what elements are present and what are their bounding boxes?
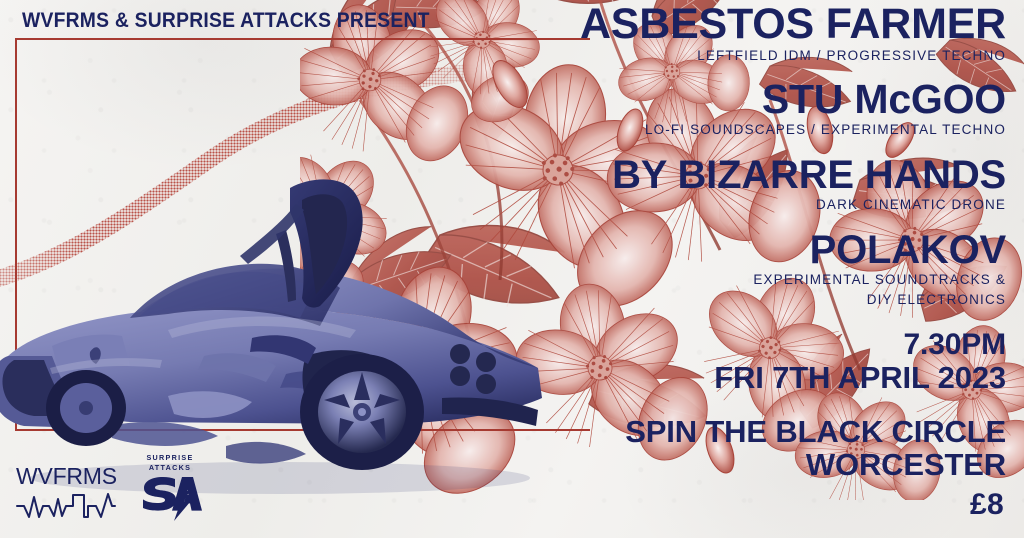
lineup-act: STU McGOO LO-FI SOUNDSCAPES / EXPERIMENT… [306,80,1006,138]
act-name: STU McGOO [306,80,1006,119]
ticket-price: £8 [970,488,1004,522]
event-date: FRI 7TH APRIL 2023 [306,362,1006,395]
act-genre-line-1: EXPERIMENTAL SOUNDTRACKS & [306,272,1006,288]
waveform-icon [16,491,116,521]
lineup-act: BY BIZARRE HANDS DARK CINEMATIC DRONE [306,156,1006,213]
event-details: 7.30PM FRI 7TH APRIL 2023 SPIN THE BLACK… [306,330,1006,482]
surprise-attacks-line-1: SURPRISE [138,453,202,462]
gig-poster: WVFRMS & SURPRISE ATTACKS PRESENT ASBEST… [0,0,1024,538]
act-name: ASBESTOS FARMER [306,4,1006,45]
sa-monogram-icon [138,473,202,521]
wvfrms-wordmark: WVFRMS [16,465,116,488]
lineup-act: POLAKOV EXPERIMENTAL SOUNDTRACKS & DIY E… [306,231,1006,308]
act-genre: DARK CINEMATIC DRONE [306,197,1006,213]
act-genre: LO-FI SOUNDSCAPES / EXPERIMENTAL TECHNO [306,122,1006,138]
act-name: BY BIZARRE HANDS [306,156,1006,194]
event-time: 7.30PM [306,330,1006,361]
lineup-act: ASBESTOS FARMER LEFTFIELD IDM / PROGRESS… [306,4,1006,64]
wvfrms-logo: WVFRMS [16,465,116,526]
event-city: WORCESTER [306,449,1006,482]
lineup-list: ASBESTOS FARMER LEFTFIELD IDM / PROGRESS… [306,4,1006,320]
act-genre-line-2: DIY ELECTRONICS [306,292,1006,308]
act-name: POLAKOV [306,231,1006,269]
event-venue: SPIN THE BLACK CIRCLE [306,416,1006,449]
surprise-attacks-logo: SURPRISE ATTACKS [138,453,202,526]
logo-row: WVFRMS SURPRISE ATTACKS [16,453,202,526]
surprise-attacks-line-2: ATTACKS [138,463,202,472]
act-genre: LEFTFIELD IDM / PROGRESSIVE TECHNO [306,48,1006,64]
